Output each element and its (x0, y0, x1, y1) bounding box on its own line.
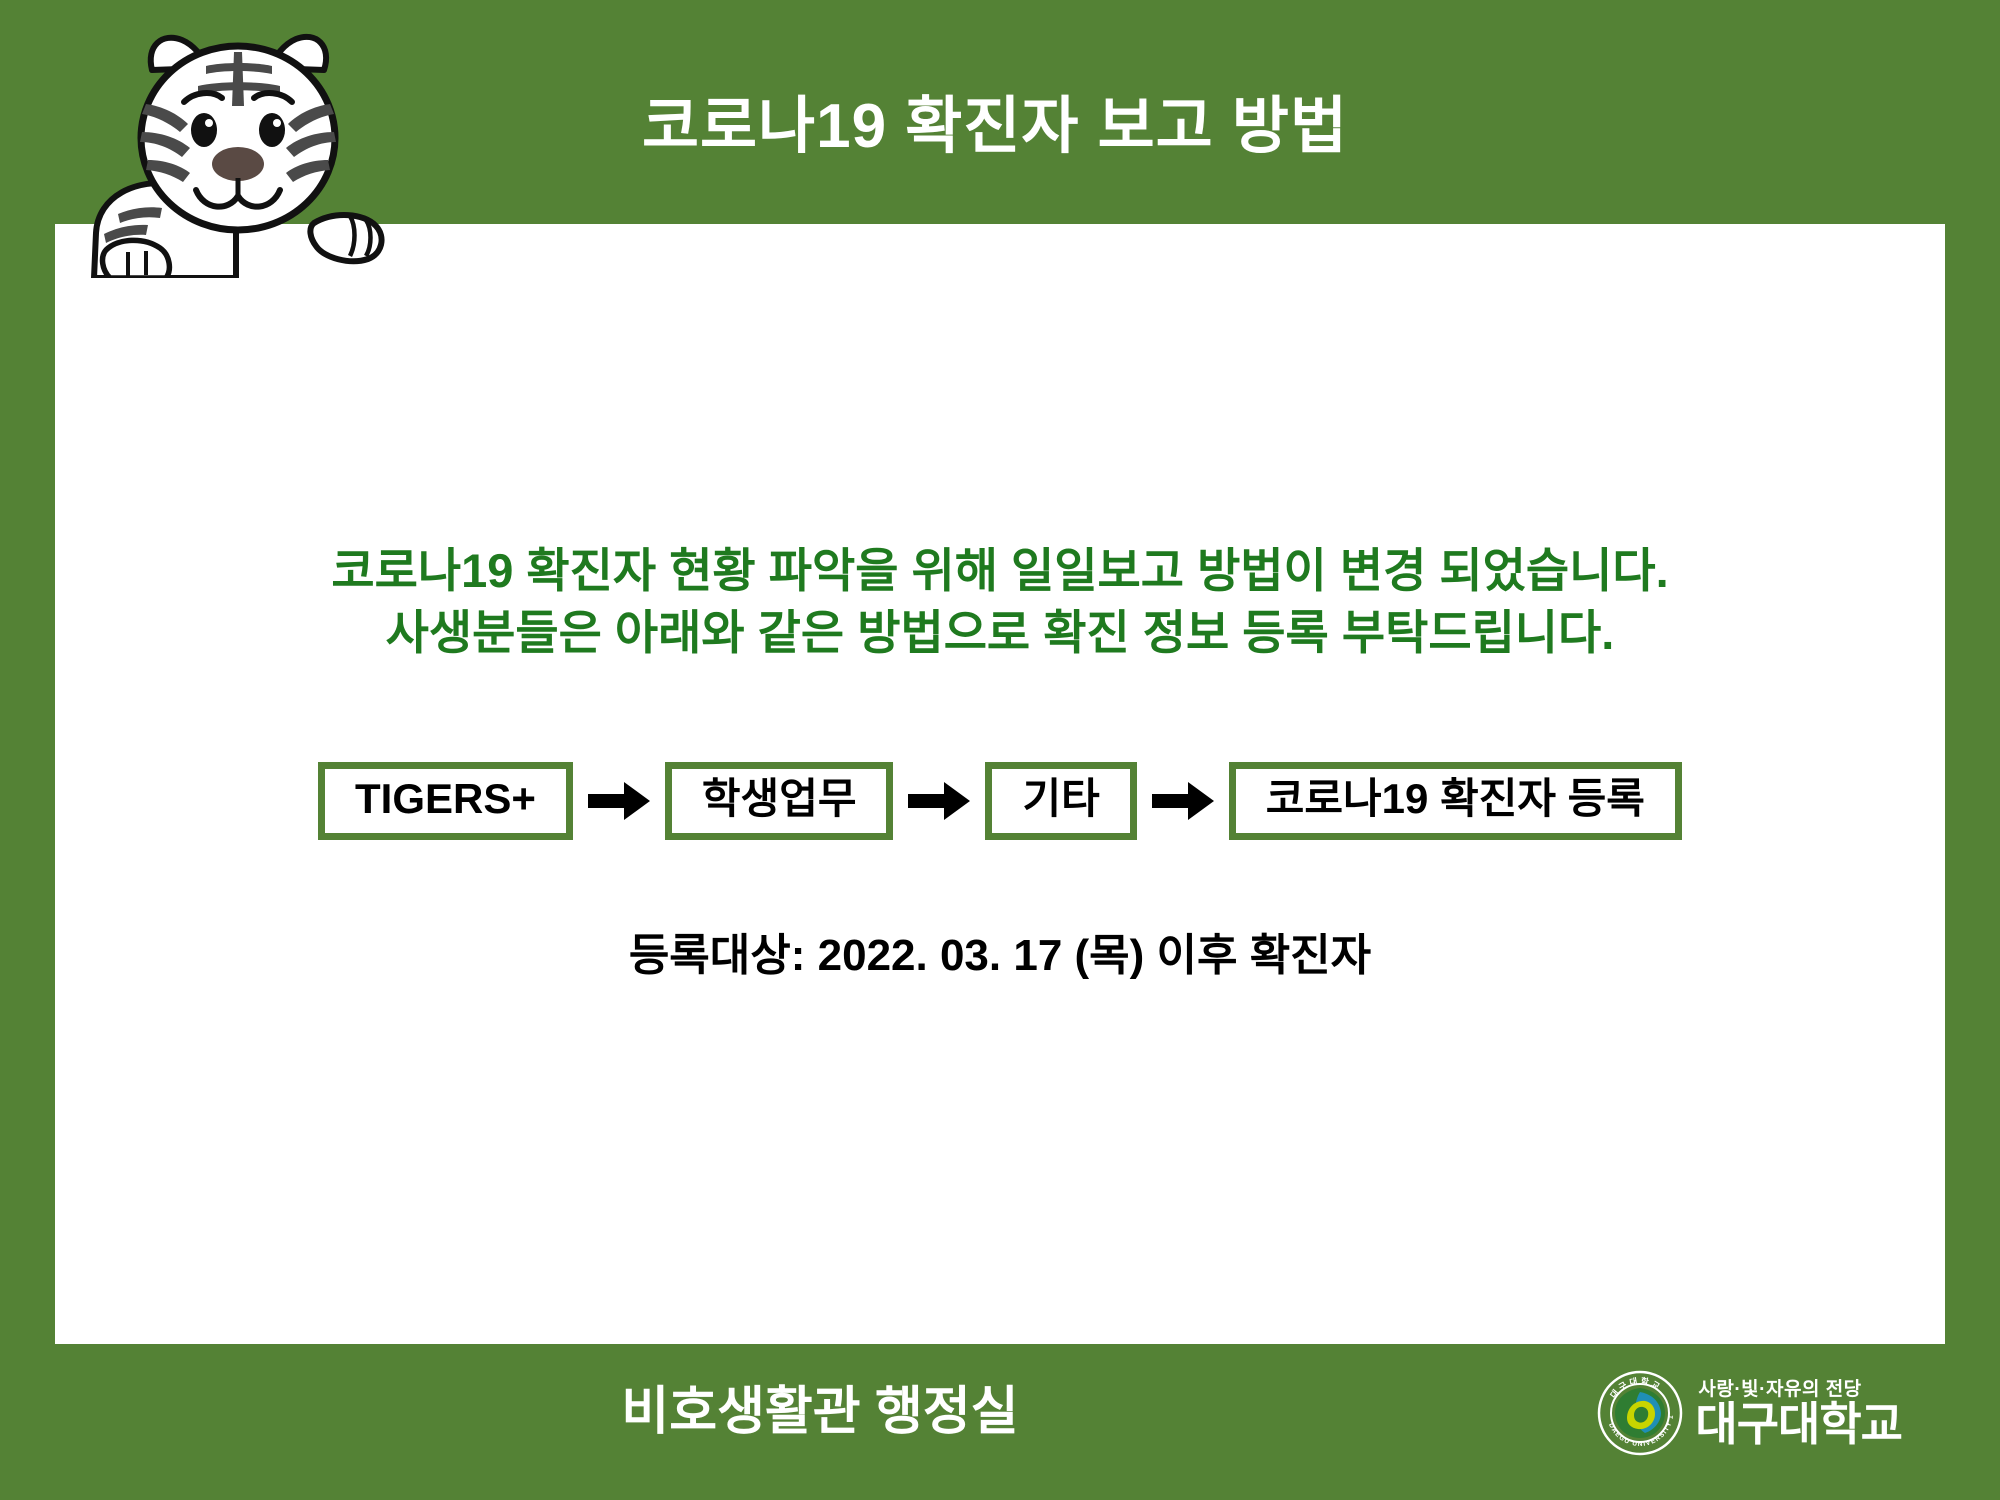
arrow-right-icon-2 (893, 782, 985, 820)
notice-line-1: 코로나19 확진자 현황 파악을 위해 일일보고 방법이 변경 되었습니다. (55, 540, 1945, 602)
report-flow-diagram: TIGERS+ 학생업무 기타 코로나19 확진자 등록 (55, 762, 1945, 840)
content-card: 코로나19 확진자 현황 파악을 위해 일일보고 방법이 변경 되었습니다. 사… (55, 224, 1945, 1344)
flow-step-student-affairs[interactable]: 학생업무 (665, 762, 894, 840)
university-emblem-icon: 대구대학교 DAEGU UNIVERSITY 1956 (1597, 1370, 1683, 1456)
notice-paragraph: 코로나19 확진자 현황 파악을 위해 일일보고 방법이 변경 되었습니다. 사… (55, 540, 1945, 664)
university-logo: 대구대학교 DAEGU UNIVERSITY 1956 사랑·빛·자유의 전당 … (1597, 1366, 1902, 1460)
flow-step-other[interactable]: 기타 (985, 762, 1136, 840)
footer-office-name: 비호생활관 행정실 (0, 1386, 1820, 1438)
registration-target-text: 등록대상: 2022. 03. 17 (목) 이후 확진자 (55, 934, 1945, 978)
notice-line-2: 사생분들은 아래와 같은 방법으로 확진 정보 등록 부탁드립니다. (55, 602, 1945, 664)
arrow-right-icon-1 (573, 782, 665, 820)
flow-step-tigers-plus[interactable]: TIGERS+ (318, 762, 573, 840)
flow-step-covid-case-registration[interactable]: 코로나19 확진자 등록 (1229, 762, 1682, 840)
university-logo-text: 사랑·빛·자유의 전당 대구대학교 (1695, 1380, 1902, 1447)
poster-canvas: 코로나19 확진자 보고 방법 (0, 0, 2000, 1500)
white-tiger-mascot-icon (88, 18, 388, 278)
university-tagline: 사랑·빛·자유의 전당 (1695, 1380, 1902, 1399)
university-name: 대구대학교 (1695, 1401, 1902, 1447)
arrow-right-icon-3 (1137, 782, 1229, 820)
footer-banner: 비호생활관 행정실 대구대학교 (0, 1344, 2000, 1500)
